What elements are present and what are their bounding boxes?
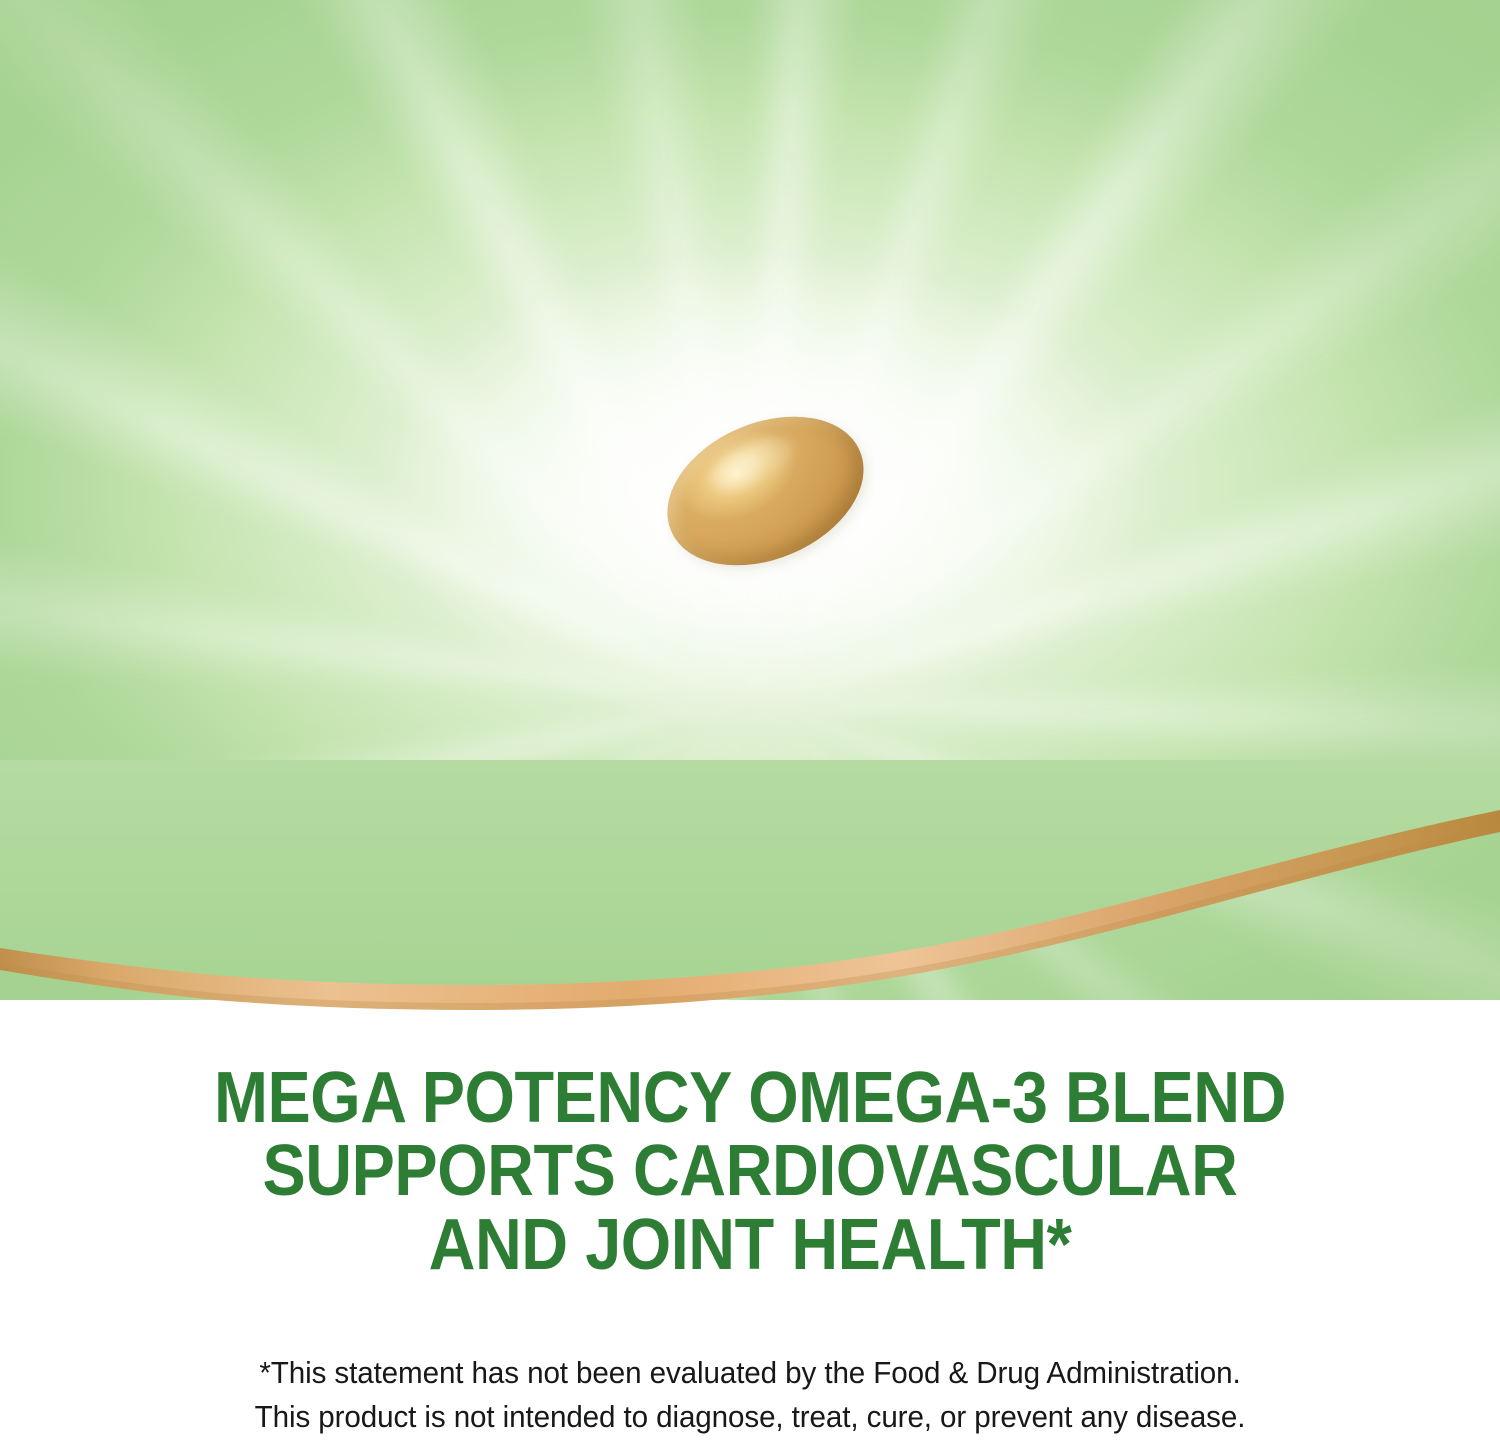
product-marketing-panel: MEGA POTENCY OMEGA-3 BLEND SUPPORTS CARD… xyxy=(0,0,1500,1451)
headline: MEGA POTENCY OMEGA-3 BLEND SUPPORTS CARD… xyxy=(75,1062,1425,1282)
softgel-capsule-image xyxy=(663,423,868,559)
disclaimer-line-2: This product is not intended to diagnose… xyxy=(23,1396,1478,1440)
headline-line-1: MEGA POTENCY OMEGA-3 BLEND xyxy=(75,1062,1425,1135)
disclaimer-line-1: *This statement has not been evaluated b… xyxy=(23,1352,1478,1396)
headline-line-2: SUPPORTS CARDIOVASCULAR xyxy=(75,1135,1425,1208)
gold-wave-divider xyxy=(0,760,1500,1020)
headline-line-3: AND JOINT HEALTH* xyxy=(75,1209,1425,1282)
fda-disclaimer: *This statement has not been evaluated b… xyxy=(23,1352,1478,1440)
